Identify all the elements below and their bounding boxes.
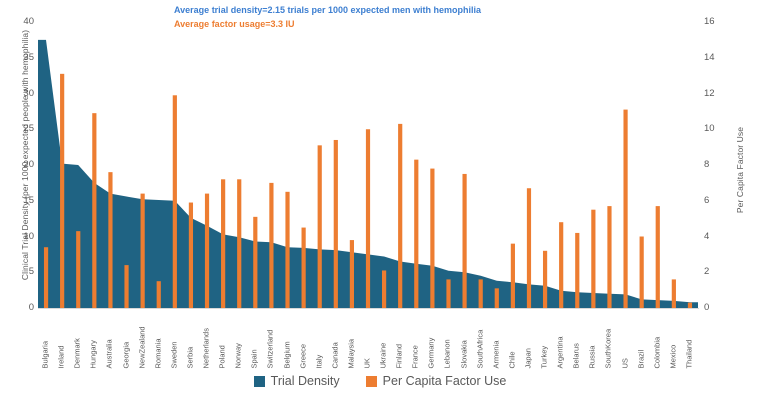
bar-bulgaria[interactable] <box>44 247 48 308</box>
x-label-newzealand: NewZealand <box>138 326 146 368</box>
x-label-norway: Norway <box>235 343 243 368</box>
x-label-france: France <box>412 345 420 368</box>
x-label-switzerland: Switzerland <box>267 329 275 368</box>
x-label-finland: Finland <box>396 343 404 368</box>
bar-turkey[interactable] <box>543 251 547 308</box>
y-left-tick-25: 25 <box>8 124 34 134</box>
bar-ireland[interactable] <box>60 74 64 308</box>
bar-russia[interactable] <box>591 210 595 308</box>
bar-belarus[interactable] <box>575 233 579 308</box>
x-label-brazil: Brazil <box>637 349 645 368</box>
x-label-romania: Romania <box>154 338 162 368</box>
bar-armenia[interactable] <box>495 288 499 308</box>
x-label-japan: Japan <box>524 348 532 368</box>
bar-spain[interactable] <box>253 217 257 308</box>
bar-ukraine[interactable] <box>382 270 386 308</box>
x-label-belgium: Belgium <box>283 341 291 368</box>
y-left-tick-15: 15 <box>8 196 34 206</box>
bar-netherlands[interactable] <box>205 194 209 308</box>
bar-argentina[interactable] <box>559 222 563 308</box>
bar-lebanon[interactable] <box>446 279 450 308</box>
y-axis-right-ticks: 1614121086420 <box>704 0 734 400</box>
x-label-bulgaria: Bulgaria <box>42 340 50 368</box>
bar-belgium[interactable] <box>285 192 289 308</box>
y-right-tick-2: 2 <box>704 267 730 277</box>
annotation-average-trial-density: Average trial density=2.15 trials per 10… <box>174 5 481 15</box>
y-right-tick-14: 14 <box>704 53 730 63</box>
x-label-slovakia: Slovakia <box>460 340 468 368</box>
x-label-sweden: Sweden <box>170 341 178 368</box>
chart-legend: Trial DensityPer Capita Factor Use <box>0 374 760 388</box>
y-right-tick-0: 0 <box>704 303 730 313</box>
y-left-tick-30: 30 <box>8 89 34 99</box>
bar-mexico[interactable] <box>672 279 676 308</box>
x-label-netherlands: Netherlands <box>203 328 211 368</box>
x-label-canada: Canada <box>331 342 339 368</box>
bar-georgia[interactable] <box>124 265 128 308</box>
legend-swatch-icon <box>254 376 265 387</box>
x-label-georgia: Georgia <box>122 341 130 368</box>
bar-denmark[interactable] <box>76 231 80 308</box>
bar-colombia[interactable] <box>656 206 660 308</box>
x-label-southkorea: SouthKorea <box>605 328 613 368</box>
bar-canada[interactable] <box>334 140 338 308</box>
x-label-australia: Australia <box>106 339 114 368</box>
chart-svg <box>38 22 698 308</box>
x-label-germany: Germany <box>428 337 436 368</box>
bar-chile[interactable] <box>511 244 515 308</box>
y-right-tick-4: 4 <box>704 232 730 242</box>
y-right-tick-12: 12 <box>704 89 730 99</box>
x-label-denmark: Denmark <box>74 338 82 368</box>
bar-us[interactable] <box>623 110 627 308</box>
x-label-spain: Spain <box>251 349 259 368</box>
x-label-greece: Greece <box>299 343 307 368</box>
x-label-serbia: Serbia <box>186 346 194 368</box>
bar-norway[interactable] <box>237 179 241 308</box>
x-label-poland: Poland <box>219 345 227 368</box>
bar-newzealand[interactable] <box>141 194 145 308</box>
x-label-hungary: Hungary <box>90 340 98 368</box>
bar-slovakia[interactable] <box>462 174 466 308</box>
bar-japan[interactable] <box>527 188 531 308</box>
y-axis-right-title: Per Capita Factor Use <box>735 70 745 270</box>
bar-southafrica[interactable] <box>479 279 483 308</box>
x-label-ukraine: Ukraine <box>380 342 388 368</box>
x-label-thailand: Thailand <box>685 339 693 368</box>
bar-australia[interactable] <box>108 172 112 308</box>
x-axis-baseline <box>38 308 699 309</box>
bar-southkorea[interactable] <box>607 206 611 308</box>
plot-area <box>38 22 698 308</box>
legend-item-per-capita-factor-use[interactable]: Per Capita Factor Use <box>366 374 507 388</box>
y-left-tick-10: 10 <box>8 232 34 242</box>
bar-hungary[interactable] <box>92 113 96 308</box>
bar-brazil[interactable] <box>640 237 644 309</box>
y-right-tick-8: 8 <box>704 160 730 170</box>
legend-label: Per Capita Factor Use <box>383 374 507 388</box>
y-left-tick-5: 5 <box>8 267 34 277</box>
bar-france[interactable] <box>414 160 418 308</box>
bar-uk[interactable] <box>366 129 370 308</box>
y-left-tick-35: 35 <box>8 53 34 63</box>
y-left-tick-0: 0 <box>8 303 34 313</box>
x-label-armenia: Armenia <box>492 340 500 368</box>
bar-italy[interactable] <box>318 145 322 308</box>
legend-swatch-icon <box>366 376 377 387</box>
x-label-us: US <box>621 358 629 368</box>
x-label-chile: Chile <box>508 351 516 368</box>
x-label-mexico: Mexico <box>669 344 677 368</box>
x-axis-category-labels: BulgariaIrelandDenmarkHungaryAustraliaGe… <box>38 310 698 368</box>
x-label-malaysia: Malaysia <box>347 338 355 368</box>
bar-malaysia[interactable] <box>350 240 354 308</box>
y-right-tick-16: 16 <box>704 17 730 27</box>
y-right-tick-10: 10 <box>704 124 730 134</box>
bar-switzerland[interactable] <box>269 183 273 308</box>
x-label-russia: Russia <box>589 345 597 368</box>
bar-germany[interactable] <box>430 169 434 308</box>
x-label-ireland: Ireland <box>58 345 66 368</box>
x-label-turkey: Turkey <box>541 345 549 368</box>
y-left-tick-40: 40 <box>8 17 34 27</box>
legend-item-trial-density[interactable]: Trial Density <box>254 374 340 388</box>
x-label-italy: Italy <box>315 354 323 368</box>
x-label-southafrica: SouthAfrica <box>476 329 484 368</box>
y-right-tick-6: 6 <box>704 196 730 206</box>
x-label-colombia: Colombia <box>653 336 661 368</box>
legend-label: Trial Density <box>271 374 340 388</box>
bar-poland[interactable] <box>221 179 225 308</box>
y-left-tick-20: 20 <box>8 160 34 170</box>
bar-romania[interactable] <box>157 281 161 308</box>
bar-serbia[interactable] <box>189 203 193 308</box>
chart-container: Clinical Trial Density (per 1000 expecte… <box>0 0 760 400</box>
x-label-belarus: Belarus <box>573 343 581 368</box>
x-label-uk: UK <box>364 358 372 368</box>
x-label-argentina: Argentina <box>557 336 565 368</box>
bar-greece[interactable] <box>302 228 306 308</box>
y-axis-left-ticks: 4035302520151050 <box>4 0 34 400</box>
bar-finland[interactable] <box>398 124 402 308</box>
bar-sweden[interactable] <box>173 95 177 308</box>
x-label-lebanon: Lebanon <box>444 339 452 368</box>
